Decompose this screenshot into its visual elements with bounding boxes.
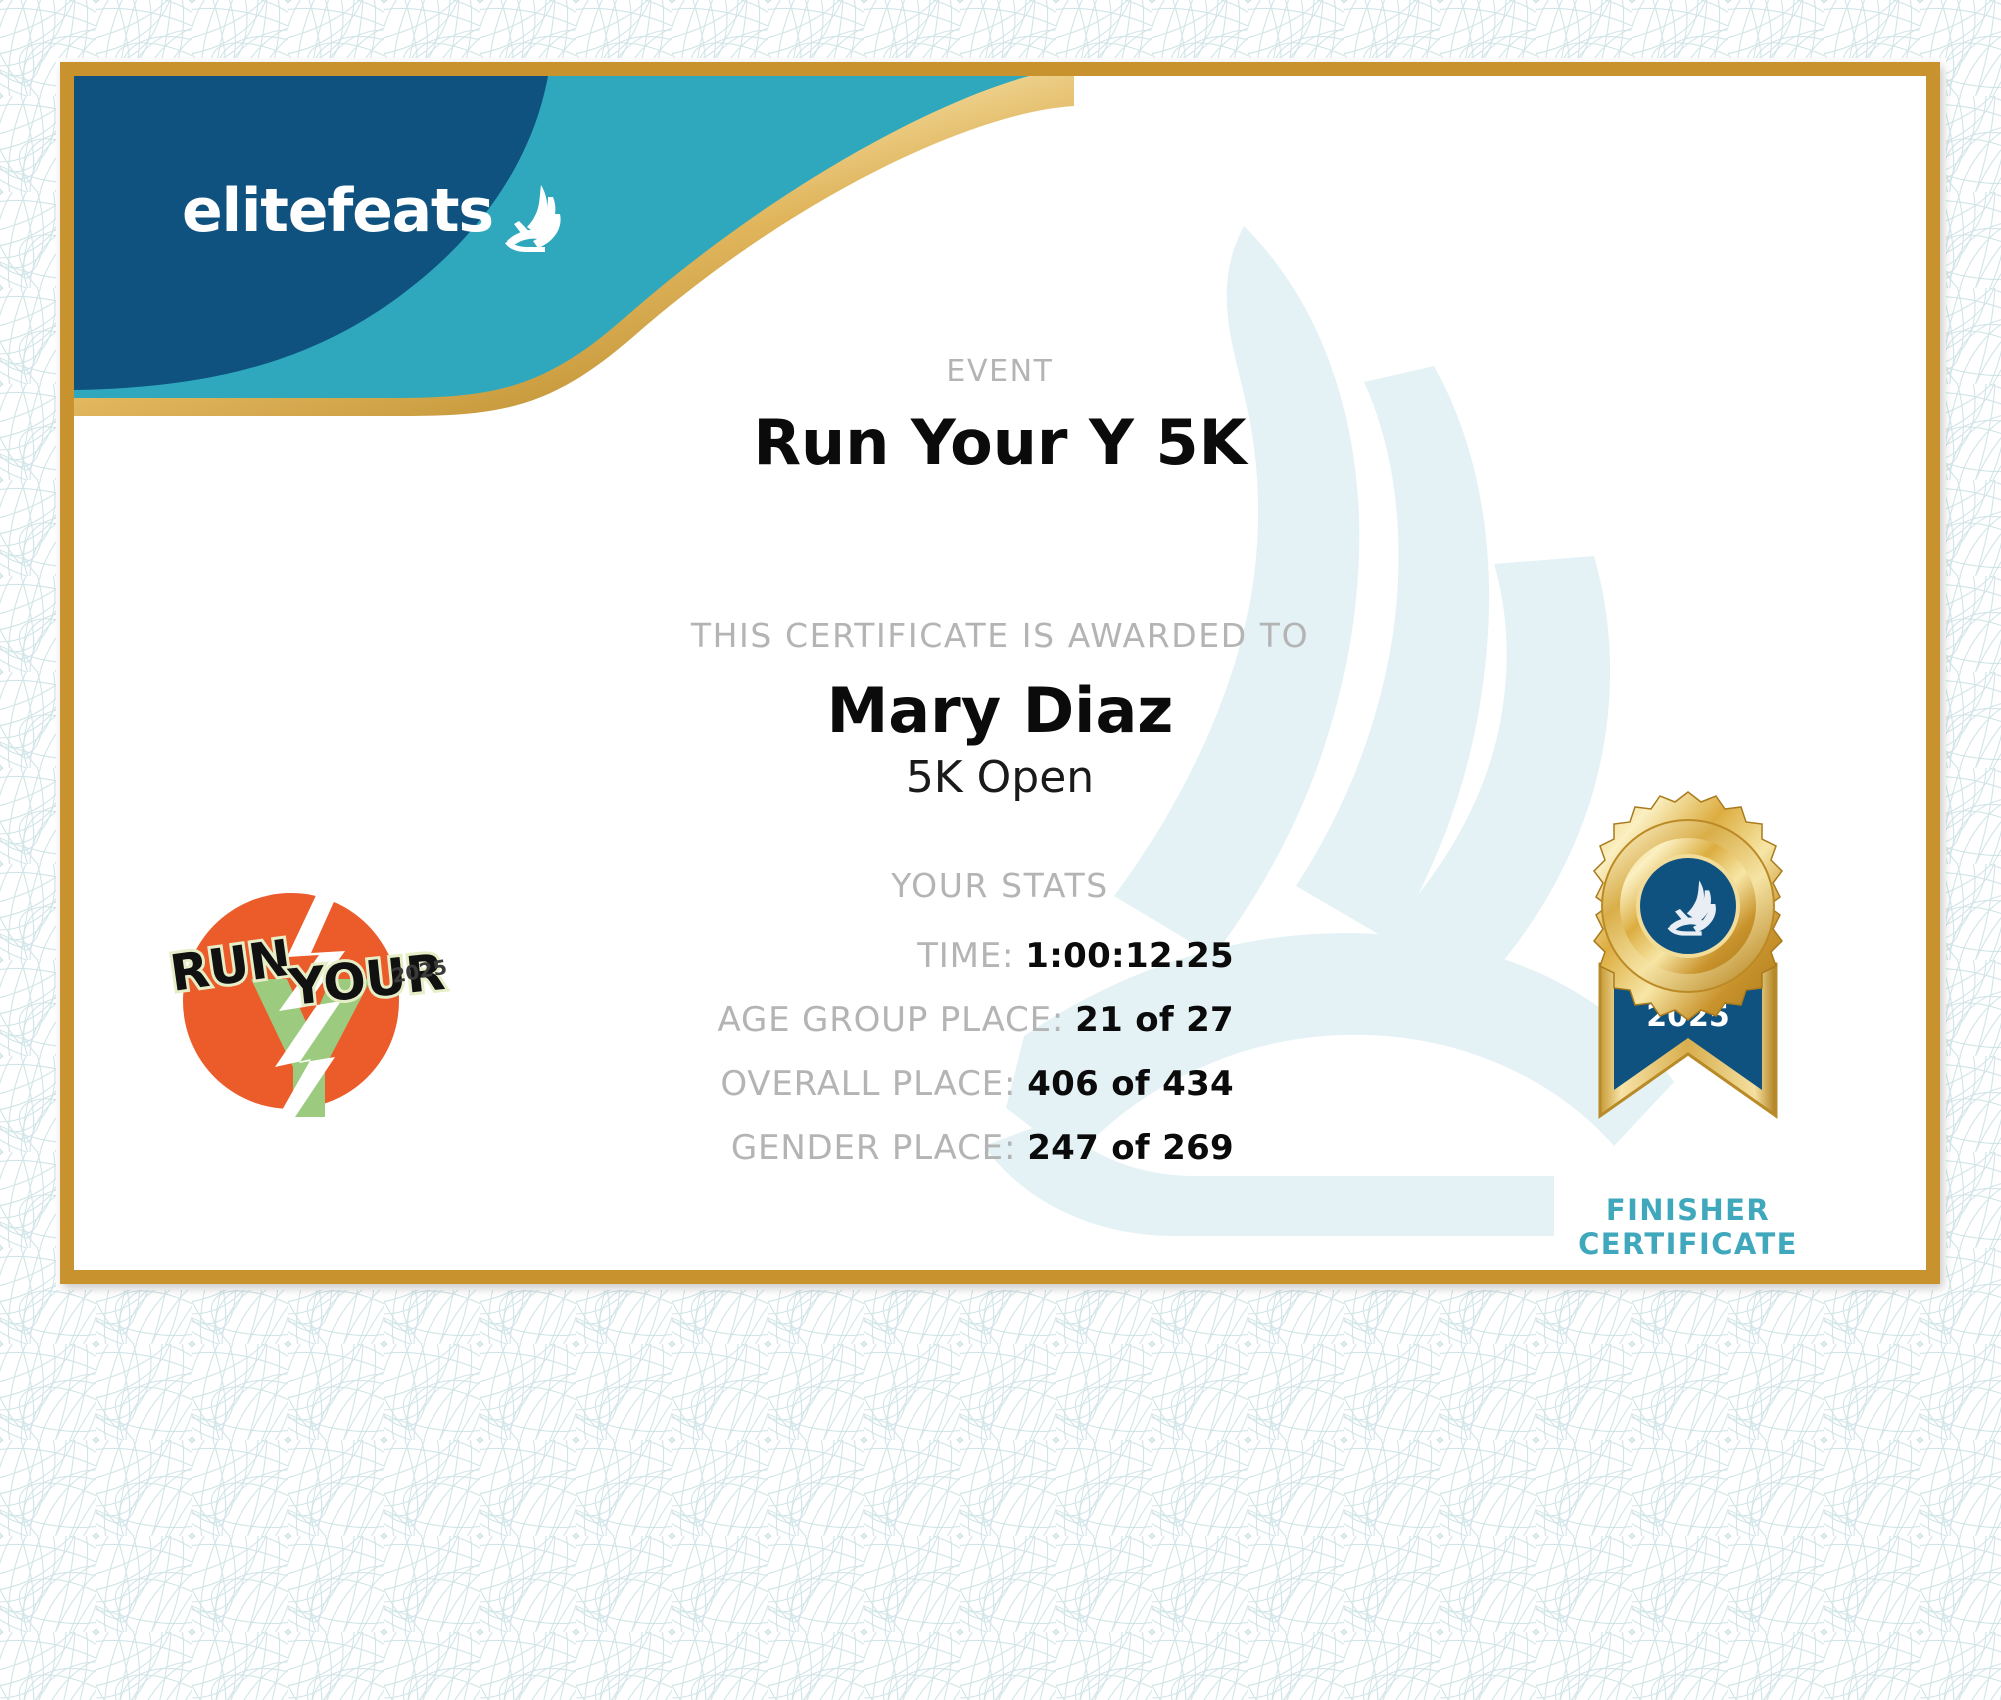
certificate-card: elitefeats EVENT Run Your Y 5K THIS xyxy=(60,62,1940,1284)
stat-row-gender-place: GENDER PLACE: 247 of 269 xyxy=(74,1128,1234,1168)
event-label: EVENT xyxy=(74,354,1926,389)
stat-value: 21 of 27 xyxy=(1075,1000,1234,1040)
event-name: Run Your Y 5K xyxy=(74,406,1926,479)
gold-medal-ribbon-icon: 2025 xyxy=(1538,786,1838,1186)
recipient-name: Mary Diaz xyxy=(74,674,1926,747)
stat-label: OVERALL PLACE: xyxy=(720,1064,1016,1104)
certificate-page: elitefeats EVENT Run Your Y 5K THIS xyxy=(0,0,2001,1700)
run-your-y-event-logo: RUN YOUR 2025 xyxy=(159,871,459,1131)
awarded-to-label: THIS CERTIFICATE IS AWARDED TO xyxy=(74,616,1926,655)
seal-caption-line2: CERTIFICATE xyxy=(1538,1227,1838,1261)
stat-value: 406 of 434 xyxy=(1027,1064,1234,1104)
finisher-seal: 2025 xyxy=(1538,786,1838,1246)
seal-caption-line1: FINISHER xyxy=(1538,1193,1838,1227)
stat-label: AGE GROUP PLACE: xyxy=(718,1000,1065,1040)
stat-value: 247 of 269 xyxy=(1027,1128,1234,1168)
stat-label: GENDER PLACE: xyxy=(731,1128,1016,1168)
stat-label: TIME: xyxy=(917,936,1014,976)
stat-value: 1:00:12.25 xyxy=(1025,936,1234,976)
seal-caption: FINISHER CERTIFICATE xyxy=(1538,1193,1838,1261)
